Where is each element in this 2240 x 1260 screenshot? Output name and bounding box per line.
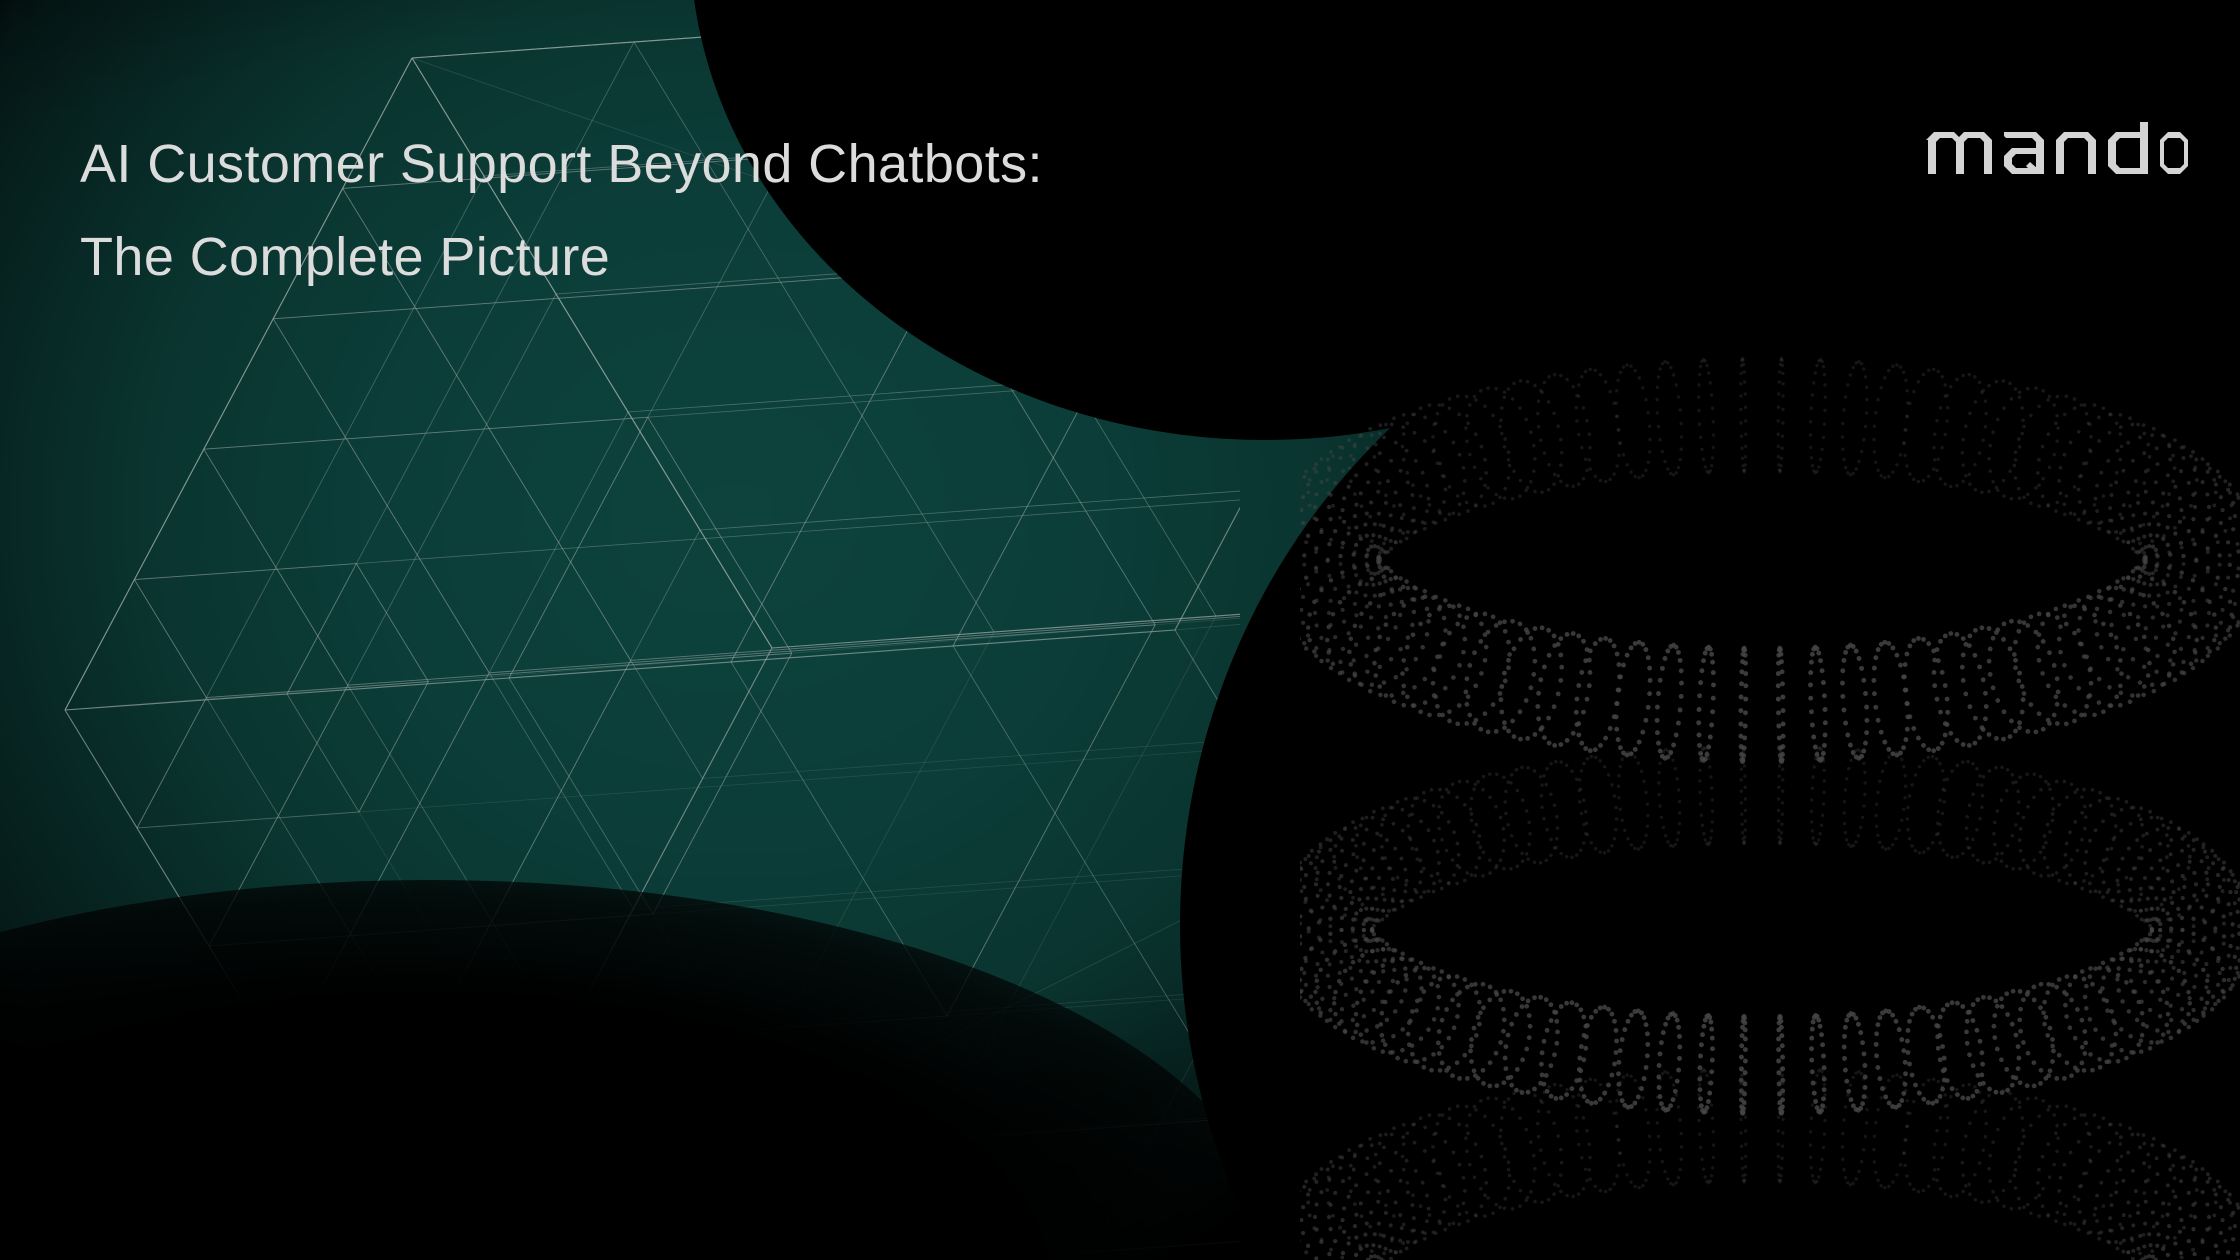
dotted-torus-group	[1300, 330, 2240, 1260]
page-title: AI Customer Support Beyond Chatbots: The…	[80, 118, 1380, 304]
title-line-1: AI Customer Support Beyond Chatbots:	[80, 118, 1380, 211]
dotted-torus-middle	[1300, 745, 2240, 1116]
glow-mask-right	[1180, 250, 2240, 1260]
mando-logo[interactable]	[1926, 122, 2188, 174]
title-line-2: The Complete Picture	[80, 211, 1380, 304]
title-card-canvas: AI Customer Support Beyond Chatbots: The…	[0, 0, 2240, 1260]
glow-mask-bottom	[0, 880, 1280, 1260]
dotted-torus-top	[1300, 357, 2240, 764]
dotted-torus-bottom	[1300, 1067, 2240, 1260]
mando-wordmark-icon	[1926, 122, 2188, 174]
